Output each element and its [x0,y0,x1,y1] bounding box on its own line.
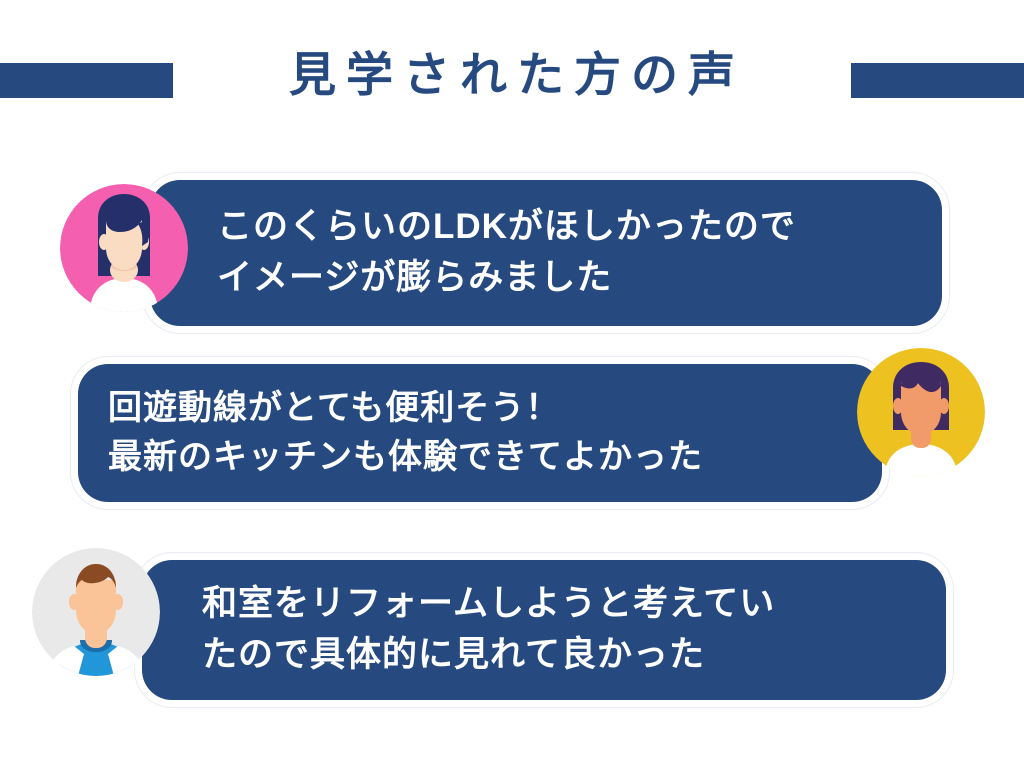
testimonial-text-3: 和室をリフォームしようと考えてい たので具体的に見れて良かった [202,579,775,681]
speech-bubble-1: このくらいのLDKがほしかったので イメージが膨らみました [150,180,942,326]
testimonial-text-2: 回遊動線がとても便利そう！ 最新のキッチンも体験できてよかった [108,384,703,483]
avatar-woman-pink [60,184,188,312]
speech-bubble-3: 和室をリフォームしようと考えてい たので具体的に見れて良かった [142,560,946,700]
testimonial-text-1: このくらいのLDKがほしかったので イメージが膨らみました [217,202,796,304]
speech-bubble-2: 回遊動線がとても便利そう！ 最新のキッチンも体験できてよかった [78,364,882,502]
avatar-man-gray [32,548,160,676]
testimonial-list: このくらいのLDKがほしかったので イメージが膨らみました 回遊動線がとても便利… [0,0,1024,768]
avatar-woman-yellow [857,348,985,476]
